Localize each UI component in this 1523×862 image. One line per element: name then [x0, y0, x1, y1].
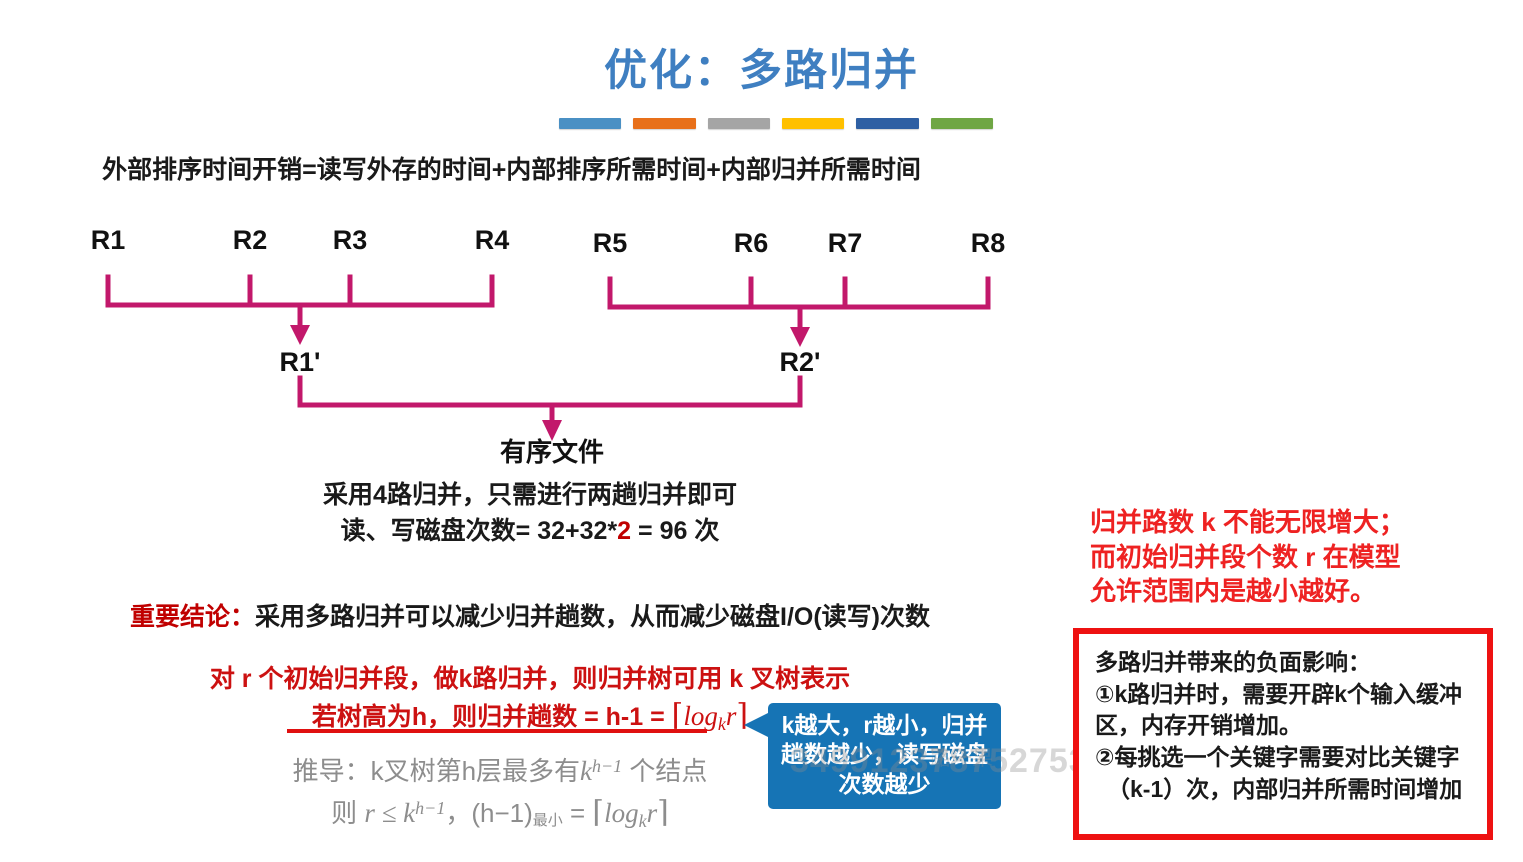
disk-note-suffix: = 96 次 [631, 517, 719, 545]
cost-formula-line: 外部排序时间开销=读写外存的时间+内部排序所需时间+内部归并所需时间 [0, 150, 1523, 186]
negative-effect-1a: ①k路归并时，需要开辟k个输入缓冲 [1095, 679, 1477, 711]
final-file-label: 有序文件 [500, 432, 604, 469]
negative-effects-title: 多路归并带来的负面影响： [1095, 647, 1477, 679]
right-panel-heading: 归并路数 k 不能无限增大； 而初始归并段个数 r 在模型 允许范围内是越小越好… [1090, 505, 1490, 609]
derivation-2-equals: = [563, 798, 593, 828]
derivation-line-1: 推导：k叉树第h层最多有kh−1 个结点 [0, 751, 1000, 788]
derivation-1-formula: kh−1 [580, 756, 622, 786]
arrowheads [290, 325, 810, 441]
accent-bar-gray [708, 118, 770, 129]
accent-bar-yellow [782, 118, 844, 129]
merged-label-r2p: R2' [780, 347, 821, 378]
negative-effects-content: 多路归并带来的负面影响： ①k路归并时，需要开辟k个输入缓冲 区，内存开销增加。… [1079, 634, 1487, 816]
derivation-1-suffix: 个结点 [622, 756, 707, 786]
derivation-2-log: ⌈logkr⌉ [592, 798, 668, 828]
negative-effect-2b: （k-1）次，内部归并所需时间增加 [1095, 774, 1477, 806]
derivation-2-inequality: r ≤ kh−1 [364, 798, 445, 828]
negative-effect-2a: ②每挑选一个关键字需要对比关键字 [1095, 742, 1477, 774]
accent-bar-blue [559, 118, 621, 129]
key-conclusion-line: 重要结论：采用多路归并可以减少归并趟数，从而减少磁盘I/O(读写)次数 [0, 597, 1060, 633]
merge-pass-formula-prefix: 若树高为h，则归并趟数 = h-1 = [312, 703, 672, 731]
merge-bracket-graphics [0, 215, 1060, 460]
derivation-2-subscript: 最小 [533, 812, 563, 829]
negative-effects-box: 多路归并带来的负面影响： ①k路归并时，需要开辟k个输入缓冲 区，内存开销增加。… [1073, 628, 1493, 840]
derivation-1-prefix: 推导：k叉树第h层最多有 [293, 756, 580, 786]
disk-note-prefix: 读、写磁盘次数= 32+32* [341, 517, 618, 545]
slide-canvas: 优化：多路归并 外部排序时间开销=读写外存的时间+内部排序所需时间+内部归并所需… [0, 0, 1523, 862]
derivation-line-2: 则 r ≤ kh−1，(h−1)最小 = ⌈logkr⌉ [0, 793, 1000, 832]
derivation-2-prefix: 则 [331, 798, 364, 828]
callout-tail-icon [744, 712, 770, 738]
accent-bar-green [931, 118, 993, 129]
page-title: 优化：多路归并 [0, 36, 1523, 98]
accent-bar-navy [856, 118, 918, 129]
right-heading-line-2: 而初始归并段个数 r 在模型 [1090, 540, 1490, 575]
merge-tree-diagram: R1 R2 R3 R4 R5 R6 R7 R8 [0, 215, 1060, 460]
derivation-2-comma: ，(h−1) [445, 798, 532, 828]
title-accent-bars [559, 118, 993, 129]
disk-note-highlight: 2 [617, 517, 631, 545]
right-heading-line-1: 归并路数 k 不能无限增大； [1090, 505, 1490, 540]
conclusion-lead: 重要结论： [130, 603, 255, 631]
negative-effect-1b: 区，内存开销增加。 [1095, 710, 1477, 742]
conclusion-body: 采用多路归并可以减少归并趟数，从而减少磁盘I/O(读写)次数 [255, 603, 930, 631]
pass-count-note: 采用4路归并，只需进行两趟归并即可 [0, 475, 1060, 511]
accent-bar-orange [633, 118, 695, 129]
merged-label-r1p: R1' [280, 347, 321, 378]
disk-access-note: 读、写磁盘次数= 32+32*2 = 96 次 [0, 511, 1060, 547]
formula-underline [287, 729, 707, 733]
log-formula-k-r: ⌈logkr⌉ [672, 701, 748, 731]
merge-tree-statement: 对 r 个初始归并段，做k路归并，则归并树可用 k 叉树表示 [0, 659, 1060, 695]
right-heading-line-3: 允许范围内是越小越好。 [1090, 574, 1490, 609]
